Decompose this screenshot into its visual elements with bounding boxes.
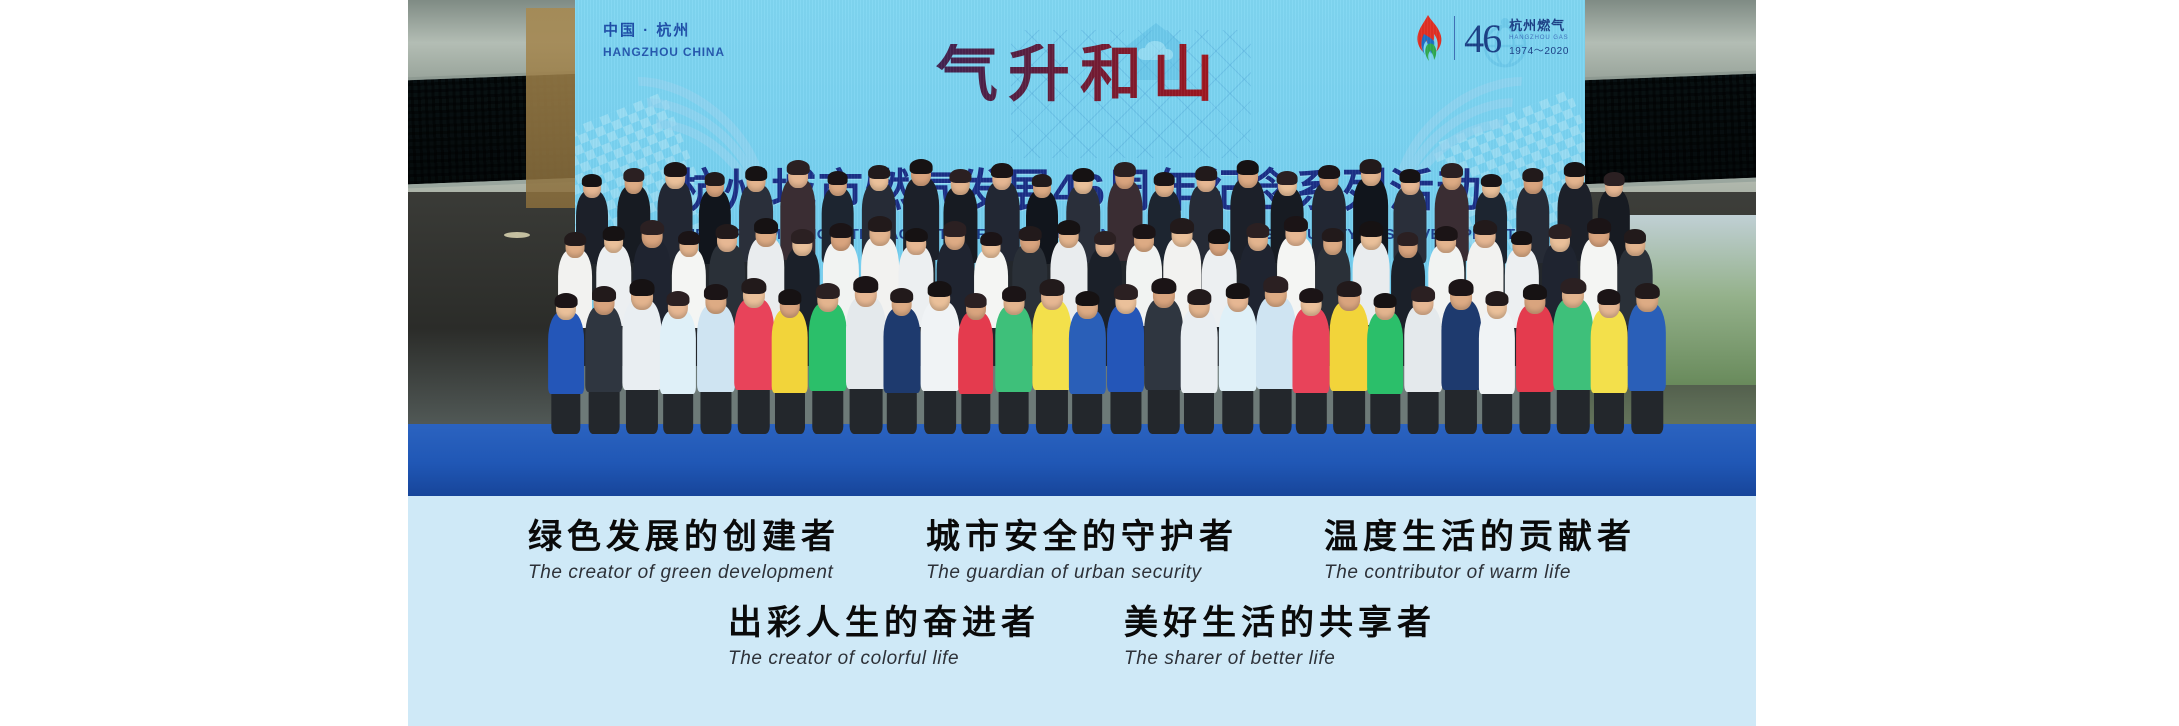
person-hair xyxy=(602,226,625,241)
slogan-item: 温度生活的贡献者 The contributor of warm life xyxy=(1324,518,1636,584)
person-hair xyxy=(981,232,1003,246)
crowd-person xyxy=(883,270,920,434)
person-torso xyxy=(1442,300,1481,390)
crowd-person xyxy=(660,274,696,434)
crowd-person xyxy=(771,272,808,434)
person-hair xyxy=(1400,169,1421,183)
crowd-person xyxy=(995,269,1032,434)
person-torso xyxy=(1144,299,1184,390)
person-hair xyxy=(1151,278,1176,295)
crowd-person xyxy=(1069,274,1105,434)
person-torso xyxy=(958,312,994,394)
crowd-person xyxy=(585,269,622,434)
slogan-en: The sharer of better life xyxy=(1124,648,1436,670)
person-hair xyxy=(1019,226,1042,241)
person-hair xyxy=(1039,279,1064,295)
crowd-person xyxy=(622,261,661,434)
person-hair xyxy=(868,165,890,179)
person-torso xyxy=(1405,306,1442,392)
person-hair xyxy=(778,289,801,304)
person-hair xyxy=(827,171,848,185)
slogan-item: 美好生活的共享者 The sharer of better life xyxy=(1124,604,1436,670)
person-hair xyxy=(1587,218,1611,234)
person-hair xyxy=(853,276,878,293)
crowd-person xyxy=(1479,274,1515,434)
person-hair xyxy=(1188,289,1211,304)
person-hair xyxy=(1002,286,1026,302)
person-torso xyxy=(1293,308,1330,393)
person-hair xyxy=(927,281,952,297)
crowd-group xyxy=(408,120,1756,440)
person-hair xyxy=(1263,276,1288,293)
person-torso xyxy=(771,309,808,393)
person-hair xyxy=(1225,283,1249,299)
slogan-item: 城市安全的守护者 The guardian of urban security xyxy=(926,518,1238,584)
locale-cn: 中国 · 杭州 xyxy=(603,21,725,41)
person-hair xyxy=(1236,160,1259,175)
person-hair xyxy=(1397,232,1419,246)
person-hair xyxy=(564,232,586,246)
company-name-en: HANGZHOU GAS xyxy=(1509,35,1569,43)
person-hair xyxy=(1561,278,1586,295)
crowd-person xyxy=(1554,259,1594,434)
person-hair xyxy=(592,286,616,302)
person-hair xyxy=(1522,168,1543,182)
person-torso xyxy=(1628,303,1666,391)
person-hair xyxy=(890,288,914,304)
person-torso xyxy=(809,303,847,391)
person-hair xyxy=(1318,165,1340,179)
person-torso xyxy=(660,310,696,393)
person-hair xyxy=(1635,283,1659,299)
person-hair xyxy=(1360,221,1383,236)
person-hair xyxy=(582,174,602,187)
person-torso xyxy=(548,312,584,394)
slogan-cn: 出彩人生的奋进者 xyxy=(728,604,1040,643)
slogan-en: The contributor of warm life xyxy=(1324,562,1636,584)
person-hair xyxy=(1486,291,1509,306)
crowd-person xyxy=(548,276,584,434)
person-hair xyxy=(1624,229,1646,244)
slogan-cn: 绿色发展的创建者 xyxy=(528,518,840,557)
company-name-cn: 杭州燃气 xyxy=(1509,18,1569,34)
person-torso xyxy=(920,302,959,391)
crowd-person xyxy=(1442,261,1481,434)
slogan-row-2: 出彩人生的奋进者 The creator of colorful life 美好… xyxy=(408,584,1756,670)
person-hair xyxy=(1171,218,1195,234)
person-hair xyxy=(1195,166,1217,180)
crowd-person xyxy=(1330,263,1369,434)
person-hair xyxy=(791,229,813,244)
person-hair xyxy=(1563,162,1585,177)
person-hair xyxy=(1481,174,1501,187)
person-hair xyxy=(1441,163,1463,178)
person-torso xyxy=(1591,309,1628,393)
person-torso xyxy=(1218,303,1256,391)
person-hair xyxy=(1359,159,1382,174)
person-hair xyxy=(1113,284,1137,300)
person-hair xyxy=(950,169,971,183)
person-hair xyxy=(1511,231,1533,245)
person-hair xyxy=(910,159,933,174)
slogan-item: 出彩人生的奋进者 The creator of colorful life xyxy=(728,604,1040,670)
person-torso xyxy=(1516,305,1554,392)
person-hair xyxy=(554,293,577,308)
slogan-cn: 美好生活的共享者 xyxy=(1124,604,1436,643)
person-torso xyxy=(1256,297,1296,389)
crowd-person xyxy=(1256,257,1296,434)
slogan-item: 绿色发展的创建者 The creator of green developmen… xyxy=(528,518,840,584)
person-hair xyxy=(1449,279,1474,295)
person-hair xyxy=(868,216,892,232)
slogan-en: The creator of colorful life xyxy=(728,648,1040,670)
person-hair xyxy=(640,220,664,236)
person-hair xyxy=(664,162,686,177)
person-hair xyxy=(1031,174,1051,187)
event-logotype: 气升和山 xyxy=(575,44,1585,106)
person-hair xyxy=(1597,289,1620,304)
person-hair xyxy=(787,160,810,175)
person-hair xyxy=(830,223,853,238)
person-torso xyxy=(1367,312,1403,394)
poster-page: 中国 · 杭州 HANGZHOU CHINA 46 杭州燃气 HANGZHOU … xyxy=(0,0,2179,726)
person-hair xyxy=(1073,168,1094,182)
person-hair xyxy=(1523,284,1547,300)
person-hair xyxy=(905,228,927,243)
crowd-person xyxy=(1516,267,1554,434)
slogan-cn: 城市安全的守护者 xyxy=(926,518,1238,557)
person-torso xyxy=(846,297,886,389)
person-hair xyxy=(964,293,987,308)
person-torso xyxy=(1479,310,1515,393)
person-hair xyxy=(816,283,840,299)
person-torso xyxy=(697,305,735,392)
person-torso xyxy=(1107,305,1145,392)
person-hair xyxy=(1132,224,1155,239)
crowd-person xyxy=(958,276,994,434)
blue-stage-floor xyxy=(408,424,1756,496)
person-hair xyxy=(746,166,768,180)
crowd-person xyxy=(1144,259,1184,434)
person-torso xyxy=(734,299,774,390)
person-hair xyxy=(704,172,725,186)
person-hair xyxy=(1154,172,1175,186)
person-hair xyxy=(1337,281,1362,297)
person-hair xyxy=(1300,288,1324,304)
crowd-person xyxy=(1591,272,1628,434)
person-hair xyxy=(1076,291,1099,306)
person-torso xyxy=(1181,309,1218,393)
person-torso xyxy=(585,306,622,392)
person-hair xyxy=(1094,231,1116,245)
person-torso xyxy=(1032,300,1071,390)
crowd-person xyxy=(846,257,886,434)
person-hair xyxy=(1208,229,1230,244)
person-torso xyxy=(1069,310,1105,393)
person-hair xyxy=(1114,162,1136,177)
person-torso xyxy=(622,300,661,390)
person-hair xyxy=(1549,224,1572,239)
person-torso xyxy=(1330,302,1369,391)
person-hair xyxy=(1284,216,1308,232)
crowd-person xyxy=(1367,276,1403,434)
person-hair xyxy=(754,218,778,234)
person-hair xyxy=(1473,220,1497,236)
person-hair xyxy=(716,224,739,239)
slogan-cn: 温度生活的贡献者 xyxy=(1324,518,1636,557)
person-hair xyxy=(1246,223,1269,238)
venue-glass-rail xyxy=(1580,0,1756,80)
person-hair xyxy=(1322,228,1344,243)
slogan-panel: 绿色发展的创建者 The creator of green developmen… xyxy=(408,496,1756,726)
person-hair xyxy=(1435,226,1458,241)
person-hair xyxy=(704,284,728,300)
person-hair xyxy=(991,163,1013,178)
crowd-person xyxy=(697,267,735,434)
crowd-person xyxy=(920,263,959,434)
slogan-en: The creator of green development xyxy=(528,562,840,584)
slogan-row-1: 绿色发展的创建者 The creator of green developmen… xyxy=(408,496,1756,584)
person-hair xyxy=(1411,286,1435,302)
person-hair xyxy=(623,168,644,182)
person-hair xyxy=(741,278,766,295)
person-hair xyxy=(630,279,655,295)
crowd-person xyxy=(734,259,774,434)
person-hair xyxy=(943,221,966,236)
person-hair xyxy=(1374,293,1397,308)
crowd-person xyxy=(1628,265,1666,434)
person-hair xyxy=(1277,171,1298,185)
crowd-person xyxy=(1181,272,1218,434)
crowd-person xyxy=(1032,261,1071,434)
slogan-en: The guardian of urban security xyxy=(926,562,1238,584)
content-pane: 中国 · 杭州 HANGZHOU CHINA 46 杭州燃气 HANGZHOU … xyxy=(408,0,1756,726)
person-torso xyxy=(883,308,920,393)
crowd-person xyxy=(1293,270,1330,434)
person-torso xyxy=(1554,299,1594,390)
person-hair xyxy=(678,231,700,245)
person-torso xyxy=(995,306,1032,392)
crowd-person xyxy=(1405,269,1442,434)
person-hair xyxy=(666,291,689,306)
crowd-person xyxy=(809,265,847,434)
group-photo: 中国 · 杭州 HANGZHOU CHINA 46 杭州燃气 HANGZHOU … xyxy=(408,0,1756,496)
person-hair xyxy=(1057,220,1081,236)
person-hair xyxy=(1604,172,1625,186)
crowd-person xyxy=(1107,267,1145,434)
crowd-person xyxy=(1218,265,1256,434)
